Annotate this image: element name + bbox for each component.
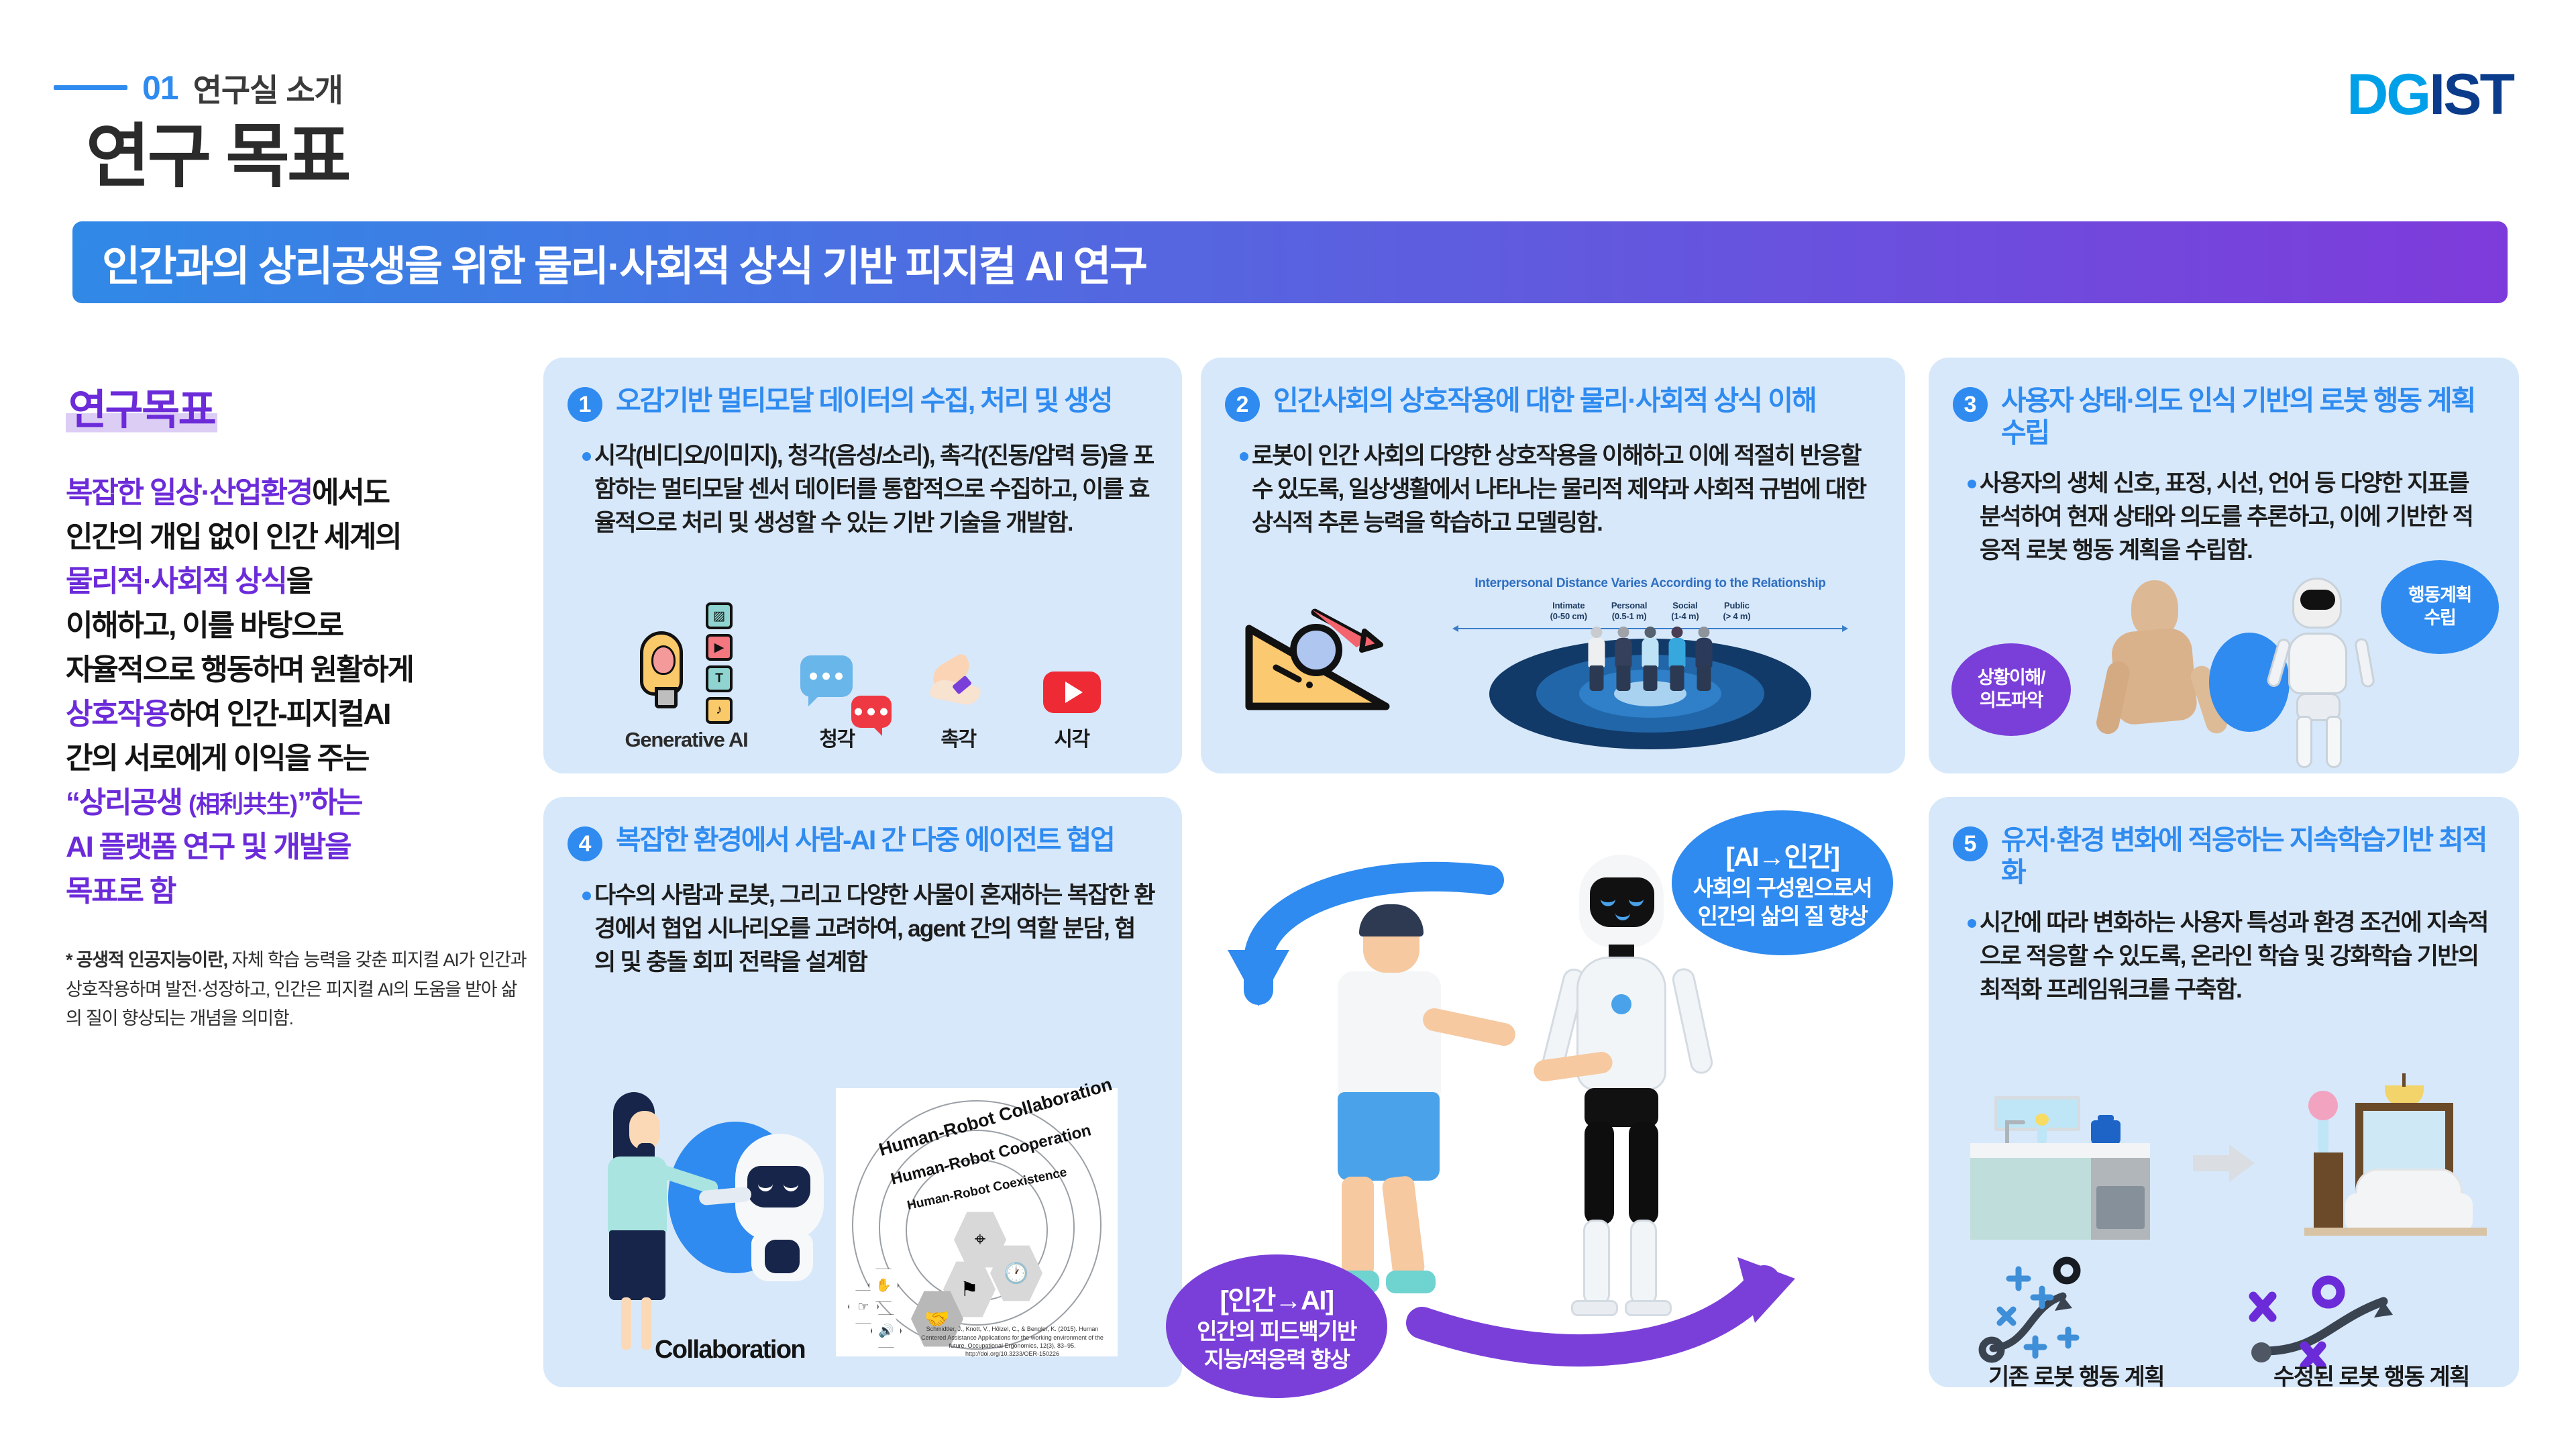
goal-line7: 간의 서로에게 이익을 주는 xyxy=(66,742,368,775)
man-hair xyxy=(1359,904,1424,936)
legend-item-public: Public(> 4 m) xyxy=(1723,600,1750,623)
card-4: 4 복잡한 환경에서 사람-AI 간 다중 에이전트 협업 다수의 사람과 로봇… xyxy=(543,797,1182,1387)
human-walking-figure xyxy=(1303,910,1504,1292)
wooden-cabinet xyxy=(2314,1152,2343,1232)
person-figure xyxy=(1588,627,1605,691)
card-1: 1 오감기반 멀티모달 데이터의 수집, 처리 및 생성 시각(비디오/이미지)… xyxy=(543,358,1182,773)
bullet-icon xyxy=(1968,480,1976,488)
kitchen-counter xyxy=(1970,1143,2150,1158)
goal-sidebar: 연구목표 복잡한 일상·산업환경에서도 인간의 개입 없이 인간 세계의 물리적… xyxy=(66,376,529,1034)
legend-range-personal: (0.5-1 m) xyxy=(1612,611,1647,621)
action-plan-pill: 행동계획수립 xyxy=(2381,560,2499,654)
modality-touch-label: 촉각 xyxy=(941,722,975,752)
goal-line10: 목표로 함 xyxy=(66,875,175,908)
speech-bubbles-icon xyxy=(800,655,874,713)
bubble-ai-tag: [AI→인간] xyxy=(1725,835,1839,874)
card-2: 2 인간사회의 상호작용에 대한 물리·사회적 상식 이해 로봇이 인간 사회의… xyxy=(1201,358,1905,773)
diagram-title: Interpersonal Distance Varies According … xyxy=(1415,576,1885,591)
hands-touch-icon xyxy=(926,658,991,713)
oven-door xyxy=(2096,1186,2145,1229)
flower-vase-icon xyxy=(2037,1123,2047,1144)
card-3: 3 사용자 상태·의도 인식 기반의 로봇 행동 계획 수립 사용자의 생체 신… xyxy=(1929,358,2519,773)
man-leg-right xyxy=(1381,1175,1426,1279)
faucet-icon xyxy=(2005,1120,2009,1144)
legend-range-intimate: (0-50 cm) xyxy=(1550,611,1587,621)
robot-leg-right xyxy=(2326,716,2342,768)
goal-line1-highlight: 복잡한 일상·산업환경 xyxy=(66,476,312,509)
assistant-robot-figure xyxy=(735,1134,836,1288)
project-banner: 인간과의 상리공생을 위한 물리·사회적 상식 기반 피지컬 AI 연구 xyxy=(72,221,2508,303)
legend-item-intimate: Intimate(0-50 cm) xyxy=(1550,600,1587,623)
slide-root: 01 연구실 소개 연구 목표 DGIST 인간과의 상리공생을 위한 물리·사… xyxy=(0,0,2576,1449)
bubble-ai-to-human: [AI→인간] 사회의 구성원으로서 인간의 삶의 질 향상 xyxy=(1672,810,1893,955)
robot4-body-panel xyxy=(765,1240,800,1273)
robot4-head xyxy=(735,1134,824,1241)
big-robot-thigh-right xyxy=(1629,1122,1658,1225)
bullet-icon xyxy=(582,892,591,900)
robot-path-plot xyxy=(1929,1226,2519,1367)
robot4-eye-left xyxy=(758,1181,773,1191)
sofa-icon xyxy=(2355,1169,2463,1233)
man-shirt xyxy=(1338,971,1441,1097)
logo-ist: IST xyxy=(2429,62,2513,127)
woman-shoe-right xyxy=(637,1143,655,1154)
big-robot-shin-left xyxy=(1583,1220,1610,1305)
card-3-body: 사용자의 생체 신호, 표정, 시선, 언어 등 다양한 지표를 분석하여 현재… xyxy=(1929,449,2519,568)
hrc-citation: Schmidtler, J., Knott, V., Hölzel, C., &… xyxy=(915,1325,1110,1358)
card-2-badge: 2 xyxy=(1225,387,1260,422)
man-shoe-right xyxy=(1386,1271,1436,1293)
big-robot-foot-right xyxy=(1625,1300,1672,1316)
goal-line3-rest: 을 xyxy=(286,565,312,598)
big-robot-arm-right xyxy=(1670,966,1715,1076)
text-tile-icon: T xyxy=(706,665,733,692)
footnote-bold: * 공생적 인공지능이란, xyxy=(66,950,227,970)
kicker-rule xyxy=(54,85,127,90)
modality-hearing: 청각 xyxy=(800,655,874,752)
sound-tile-icon: ♪ xyxy=(706,697,733,724)
card-4-title: 복잡한 환경에서 사람-AI 간 다중 에이전트 협업 xyxy=(616,824,1114,856)
card-4-body: 다수의 사람과 로봇, 그리고 다양한 사물이 혼재하는 복잡한 환경에서 협업… xyxy=(543,861,1182,979)
situation-understanding-pill: 상황이해/의도파악 xyxy=(1951,643,2071,736)
card-3-title: 사용자 상태·의도 인식 기반의 로봇 행동 계획 수립 xyxy=(2001,384,2496,449)
page-title: 연구 목표 xyxy=(86,99,349,201)
big-robot-eye-right xyxy=(1629,896,1644,906)
bubble-ai-line1: 사회의 구성원으로서 xyxy=(1693,874,1872,902)
legend-range-social: (1-4 m) xyxy=(1671,611,1699,621)
bullet-icon xyxy=(1968,919,1976,928)
transition-arrow-icon xyxy=(2193,1144,2255,1182)
card-3-badge: 3 xyxy=(1953,387,1988,422)
goal-line8-hanja: (相利共生) xyxy=(189,790,297,818)
collaboration-illustration: Collaboration xyxy=(582,1079,810,1367)
bubble-human-line2: 지능/적응력 향상 xyxy=(1204,1346,1349,1374)
brain-icon xyxy=(651,645,676,675)
card-5-badge: 5 xyxy=(1953,826,1988,861)
goal-line8-b: ”하는 xyxy=(297,786,362,819)
card-2-text: 로봇이 인간 사회의 다양한 상호작용을 이해하고 이에 적절히 반응할 수 있… xyxy=(1252,443,1866,536)
people-group xyxy=(1588,627,1713,691)
man-shorts xyxy=(1338,1092,1440,1181)
legend-item-social: Social(1-4 m) xyxy=(1671,600,1699,623)
pill-left-line2: 의도파악 xyxy=(1980,690,2043,710)
card-4-header: 4 복잡한 환경에서 사람-AI 간 다중 에이전트 협업 xyxy=(543,797,1182,861)
legend-item-personal: Personal(0.5-1 m) xyxy=(1611,600,1647,623)
card-5-title: 유저·환경 변화에 적응하는 지속학습기반 최적화 xyxy=(2001,824,2496,889)
modality-touch: 촉각 xyxy=(926,658,991,752)
goal-paragraph: 복잡한 일상·산업환경에서도 인간의 개입 없이 인간 세계의 물리적·사회적 … xyxy=(66,471,529,914)
woman-figure xyxy=(596,1092,683,1313)
robot-torso xyxy=(2288,633,2347,694)
goal-line6-rest: 하여 인간-피지컬AI xyxy=(168,698,390,731)
legend-label-personal: Personal xyxy=(1611,600,1647,610)
woman-shoe-left xyxy=(616,1143,633,1154)
big-robot-foot-left xyxy=(1571,1300,1618,1316)
hrc-ring-diagram: Human-Robot Collaboration Human-Robot Co… xyxy=(836,1088,1118,1356)
generative-ai-caption: Generative AI xyxy=(625,728,747,752)
card-5-header: 5 유저·환경 변화에 적응하는 지속학습기반 최적화 xyxy=(1929,797,2519,889)
legend-label-intimate: Intimate xyxy=(1552,600,1585,610)
goal-line2: 인간의 개입 없이 인간 세계의 xyxy=(66,521,400,553)
robot-visor xyxy=(2300,590,2335,610)
bubble-ai-line2: 인간의 삶의 질 향상 xyxy=(1698,902,1868,930)
interpersonal-distance-diagram: Interpersonal Distance Varies According … xyxy=(1415,576,1885,773)
goal-line4: 이해하고, 이를 바탕으로 xyxy=(66,609,343,642)
person-figure xyxy=(1695,627,1713,691)
big-robot-chest-light xyxy=(1611,994,1631,1014)
robot4-visor xyxy=(747,1166,810,1207)
proxemic-rings xyxy=(1415,632,1885,733)
banner-title: 인간과의 상리공생을 위한 물리·사회적 상식 기반 피지컬 AI 연구 xyxy=(102,232,1146,292)
caption-after-plan: 수정된 로봇 행동 계획 xyxy=(2224,1358,2519,1387)
card-2-header: 2 인간사회의 상호작용에 대한 물리·사회적 상식 이해 xyxy=(1201,358,1905,422)
big-robot-face xyxy=(1590,877,1654,927)
card-1-title: 오감기반 멀티모달 데이터의 수집, 처리 및 생성 xyxy=(616,384,1112,417)
card-1-badge: 1 xyxy=(568,387,602,422)
legend-label-public: Public xyxy=(1724,600,1750,610)
card-3-header: 3 사용자 상태·의도 인식 기반의 로봇 행동 계획 수립 xyxy=(1929,358,2519,449)
center-cycle-scene: [AI→인간] 사회의 구성원으로서 인간의 삶의 질 향상 [인간→AI] 인… xyxy=(1201,792,1905,1395)
card-3-figure: 상황이해/의도파악 행동계획수립 xyxy=(1929,571,2519,773)
goal-line6-highlight: 상호작용 xyxy=(66,698,168,731)
card-5-figure: 기존 로봇 행동 계획 수정된 로봇 행동 계획 xyxy=(1929,1065,2519,1387)
card-5-body: 시간에 따라 변화하는 사용자 특성과 환경 조건에 지속적으로 적응할 수 있… xyxy=(1929,889,2519,1007)
logo-dg: DG xyxy=(2347,62,2429,127)
collaboration-caption: Collaboration xyxy=(629,1336,830,1364)
ramp-svg xyxy=(1237,606,1398,720)
path-before xyxy=(1982,1260,2077,1359)
modality-hearing-label: 청각 xyxy=(819,722,854,752)
rose-vase-icon xyxy=(2318,1115,2328,1154)
goal-line5: 자율적으로 행동하며 원활하게 xyxy=(66,653,413,686)
bubble-human-tag: [인간→AI] xyxy=(1220,1279,1333,1318)
generative-ai-icon-group: ▨ ▶ T ♪ Generative AI xyxy=(625,602,747,752)
bullet-icon xyxy=(582,452,591,461)
card-4-figure: Collaboration Human-Robot Collaboration … xyxy=(543,1065,1182,1387)
big-robot-smile xyxy=(1615,912,1630,920)
modality-vision: 시각 xyxy=(1043,672,1101,752)
woman-skirt xyxy=(609,1230,665,1300)
card-1-text: 시각(비디오/이미지), 청각(음성/소리), 촉각(진동/압력 등)을 포함하… xyxy=(594,443,1153,536)
legend-label-social: Social xyxy=(1672,600,1697,610)
card-5-captions: 기존 로봇 행동 계획 수정된 로봇 행동 계획 xyxy=(1929,1358,2519,1387)
legend-range-public: (> 4 m) xyxy=(1723,611,1750,621)
card-4-text: 다수의 사람과 로봇, 그리고 다양한 사물이 혼재하는 복잡한 환경에서 협업… xyxy=(594,882,1155,975)
lightbulb-icon xyxy=(640,631,683,696)
pill-left-line1: 상황이해/ xyxy=(1978,667,2045,688)
goal-line3-highlight: 물리적·사회적 상식 xyxy=(66,565,286,598)
pill-right-line2: 수립 xyxy=(2424,608,2455,628)
speech-bubble-blue-icon xyxy=(800,655,853,697)
person-figure xyxy=(1615,627,1632,691)
bubble-human-line1: 인간의 피드백기반 xyxy=(1197,1318,1356,1346)
human-figure-3d xyxy=(2090,580,2224,761)
card-1-header: 1 오감기반 멀티모달 데이터의 수집, 처리 및 생성 xyxy=(543,358,1182,422)
big-robot-thigh-left xyxy=(1585,1122,1614,1225)
goal-line1-rest: 에서도 xyxy=(312,476,389,509)
card-2-title: 인간사회의 상호작용에 대한 물리·사회적 상식 이해 xyxy=(1273,384,1816,417)
path-after xyxy=(2251,1280,2393,1366)
card-1-body: 시각(비디오/이미지), 청각(음성/소리), 촉각(진동/압력 등)을 포함하… xyxy=(543,422,1182,540)
big-robot-shin-right xyxy=(1630,1220,1657,1305)
card-5: 5 유저·환경 변화에 적응하는 지속학습기반 최적화 시간에 따라 변화하는 … xyxy=(1929,797,2519,1387)
robot-figure xyxy=(2264,578,2378,767)
man-leg-left xyxy=(1342,1177,1374,1277)
hand-lower-icon xyxy=(928,678,981,708)
pill-right-line1: 행동계획 xyxy=(2408,585,2471,605)
person-figure xyxy=(1668,627,1686,691)
cooking-pot-icon xyxy=(2091,1120,2121,1146)
card-3-text: 사용자의 생체 신호, 표정, 시선, 언어 등 다양한 지표를 분석하여 현재… xyxy=(1980,470,2473,563)
robot4-eye-right xyxy=(784,1181,798,1191)
bubble-human-to-ai: [인간→AI] 인간의 피드백기반 지능/적응력 향상 xyxy=(1166,1254,1387,1398)
caption-before-plan: 기존 로봇 행동 계획 xyxy=(1929,1358,2224,1387)
play-button-icon xyxy=(1043,672,1101,713)
big-robot-eye-left xyxy=(1601,896,1615,906)
goal-footnote: * 공생적 인공지능이란, 자체 학습 능력을 갖춘 피지컬 AI가 인간과 상… xyxy=(66,946,529,1034)
goal-line9: AI 플랫폼 연구 및 개발을 xyxy=(66,830,350,863)
goal-line8-a: “상리공생 xyxy=(66,786,189,819)
card-2-body: 로봇이 인간 사회의 다양한 상호작용을 이해하고 이에 적절히 반응할 수 있… xyxy=(1201,422,1905,540)
robot-leg-left xyxy=(2296,716,2312,768)
modality-vision-label: 시각 xyxy=(1054,722,1089,752)
robot-arm-right xyxy=(2354,637,2376,688)
dgist-logo: DGIST xyxy=(2347,66,2513,123)
card-1-figure: ▨ ▶ T ♪ Generative AI 청각 xyxy=(543,602,1182,752)
video-tile-icon: ▶ xyxy=(706,634,733,661)
speech-bubble-red-icon xyxy=(851,696,892,728)
card-5-text: 시간에 따라 변화하는 사용자 특성과 환경 조건에 지속적으로 적응할 수 있… xyxy=(1980,910,2488,1003)
person-figure xyxy=(1642,627,1659,691)
card-4-badge: 4 xyxy=(568,826,602,861)
modality-tiles: ▨ ▶ T ♪ xyxy=(706,602,733,724)
bullet-icon xyxy=(1240,452,1248,461)
image-tile-icon: ▨ xyxy=(706,602,733,629)
goal-heading: 연구목표 xyxy=(66,376,217,436)
inclined-plane-icon xyxy=(1237,606,1398,720)
card-2-figure: Interpersonal Distance Varies According … xyxy=(1201,586,1905,773)
diagram-legend: Intimate(0-50 cm) Personal(0.5-1 m) Soci… xyxy=(1415,600,1885,623)
